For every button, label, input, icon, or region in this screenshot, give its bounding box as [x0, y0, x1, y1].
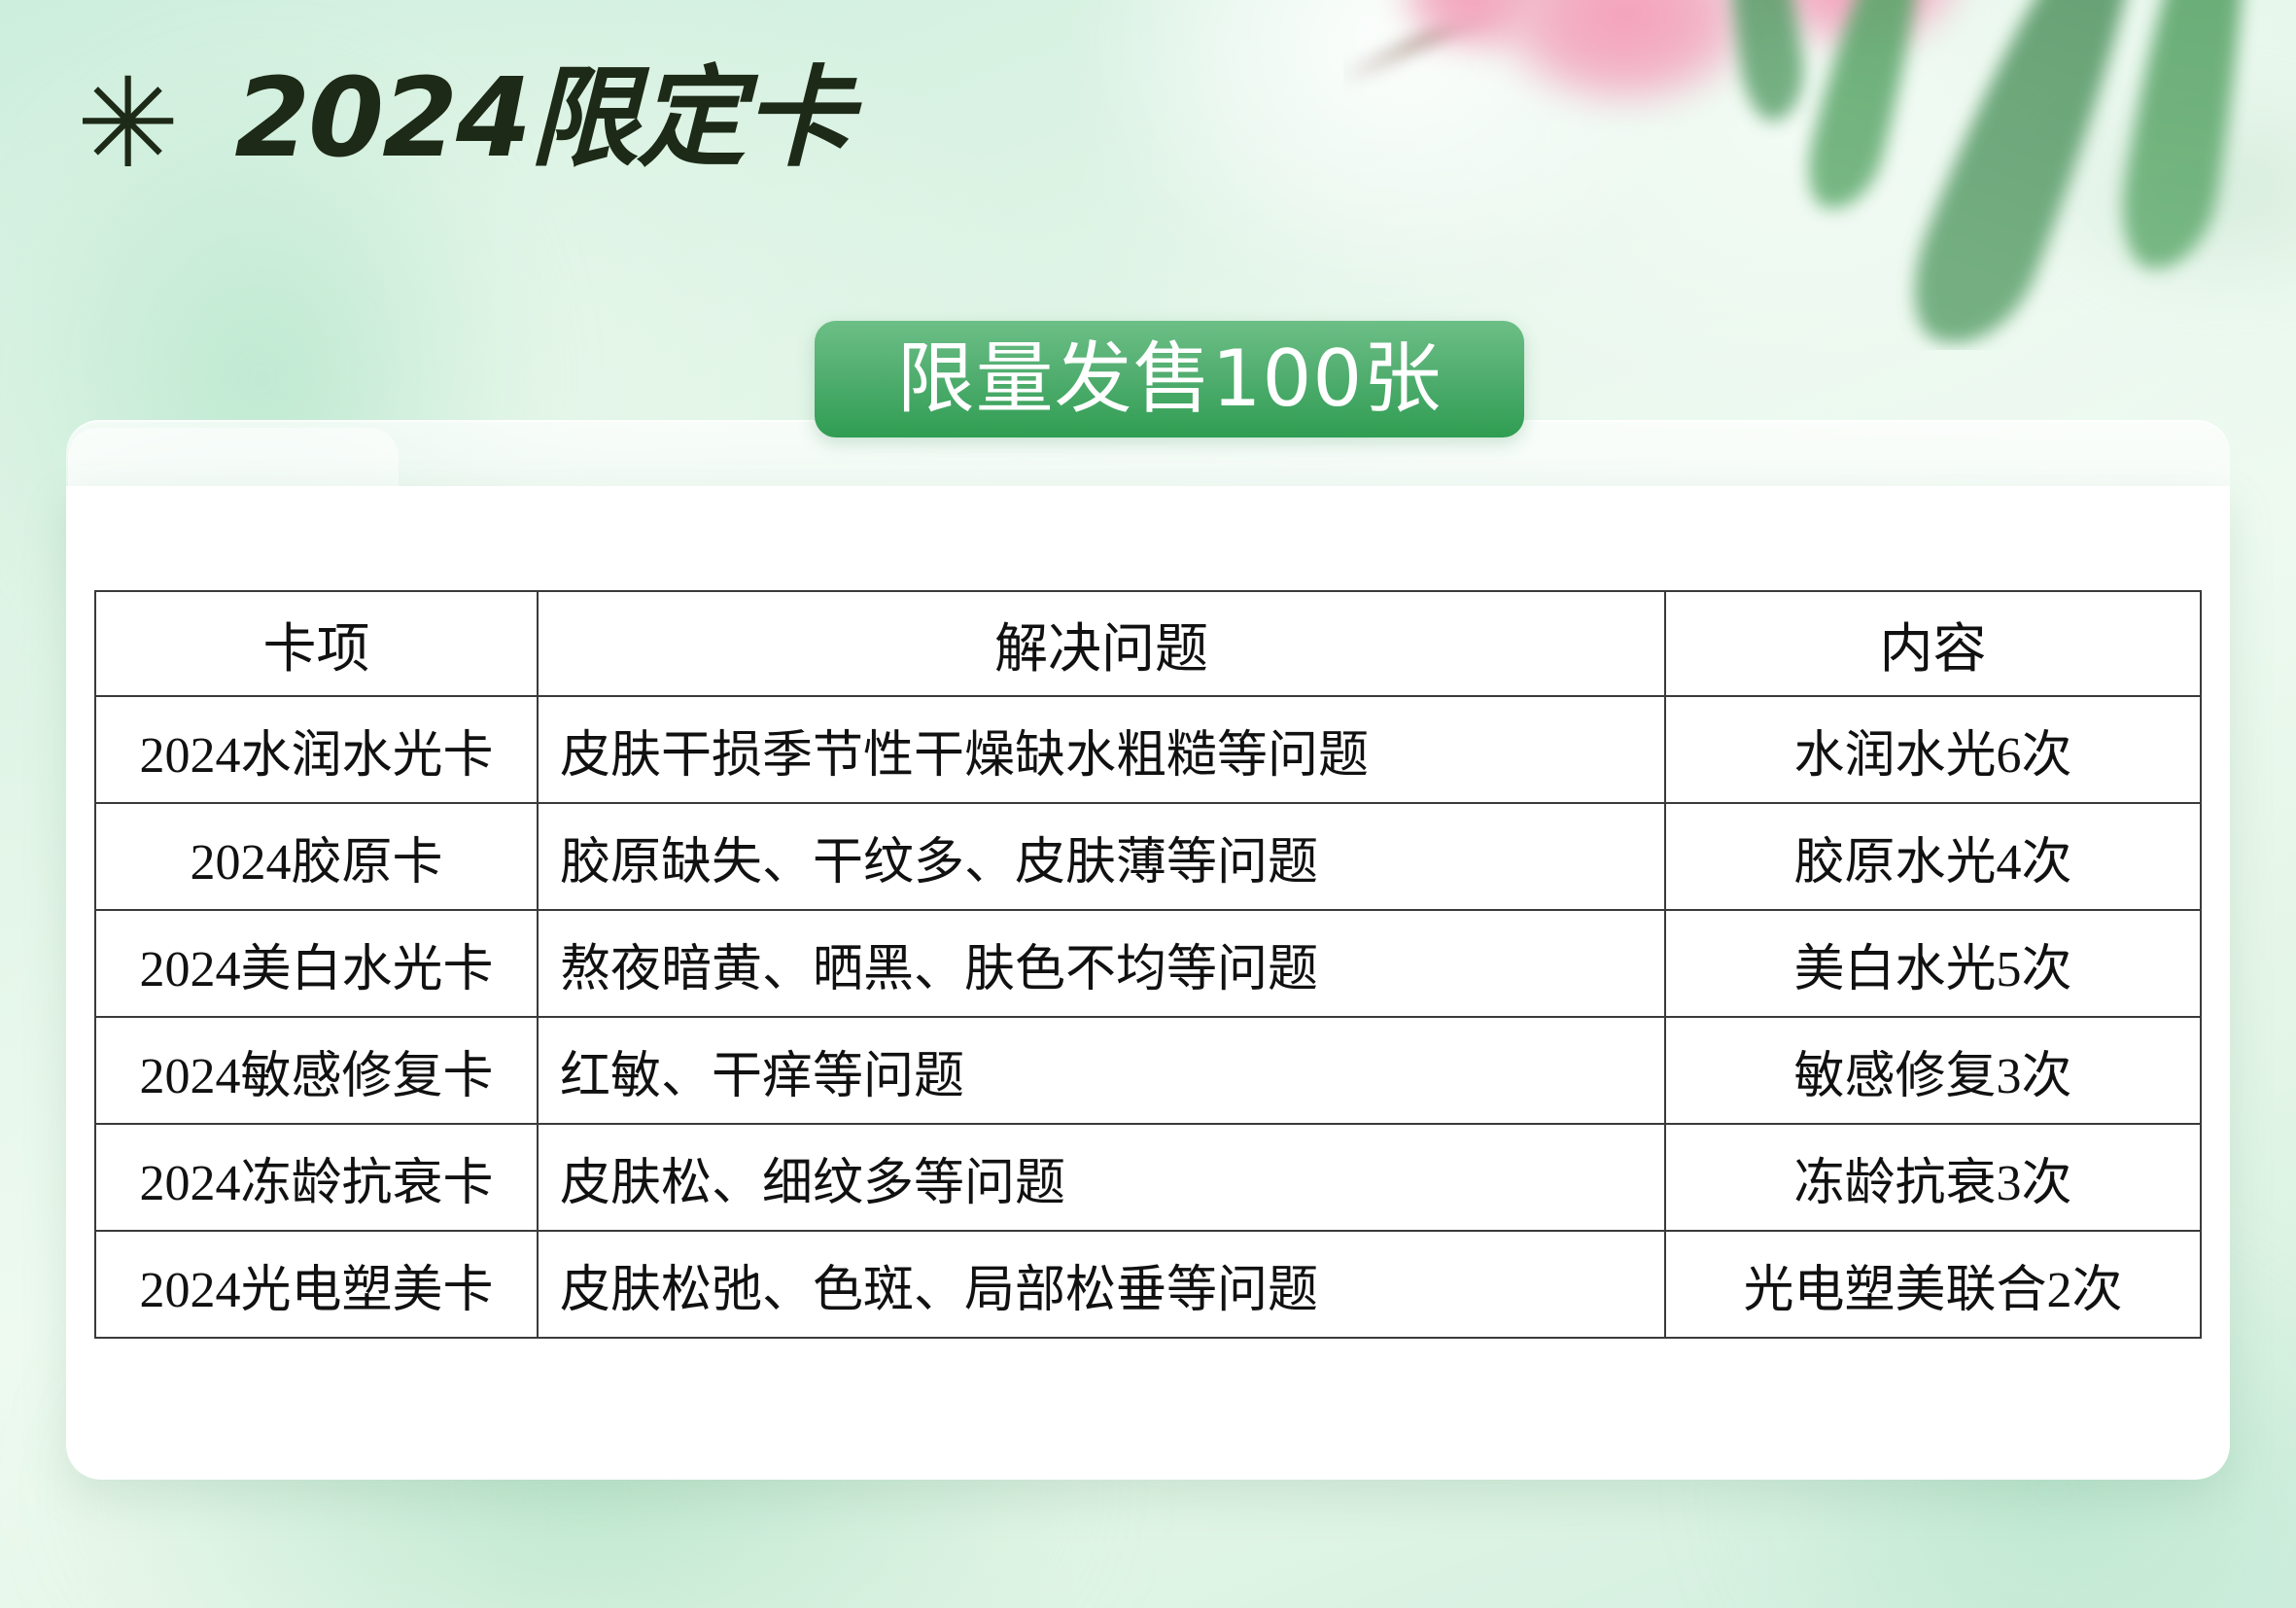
cell-card-name: 2024光电塑美卡 [95, 1231, 538, 1338]
cell-card-name: 2024敏感修复卡 [95, 1017, 538, 1124]
table-head: 卡项 解决问题 内容 [95, 591, 2201, 696]
cell-content: 美白水光5次 [1665, 910, 2201, 1017]
pricing-table: 卡项 解决问题 内容 2024水润水光卡 皮肤干损季节性干燥缺水粗糙等问题 水润… [94, 590, 2202, 1339]
cell-issue: 皮肤松弛、色斑、局部松垂等问题 [538, 1231, 1665, 1338]
cell-content: 胶原水光4次 [1665, 803, 2201, 910]
table-row: 2024冻龄抗衰卡 皮肤松、细纹多等问题 冻龄抗衰3次 [95, 1124, 2201, 1231]
asterisk-icon: ✳ [76, 62, 180, 187]
page-title: 2024限定卡 [234, 64, 851, 173]
floral-decoration [1343, 0, 2296, 350]
table-row: 2024胶原卡 胶原缺失、干纹多、皮肤薄等问题 胶原水光4次 [95, 803, 2201, 910]
cell-card-name: 2024冻龄抗衰卡 [95, 1124, 538, 1231]
blossom-icon [1479, 0, 1771, 117]
cell-issue: 熬夜暗黄、晒黑、肤色不均等问题 [538, 910, 1665, 1017]
pricing-table-wrap: 卡项 解决问题 内容 2024水润水光卡 皮肤干损季节性干燥缺水粗糙等问题 水润… [94, 590, 2200, 1339]
table-body: 2024水润水光卡 皮肤干损季节性干燥缺水粗糙等问题 水润水光6次 2024胶原… [95, 696, 2201, 1338]
table-header-row: 卡项 解决问题 内容 [95, 591, 2201, 696]
limited-stock-badge: 限量发售100张 [815, 321, 1524, 437]
table-row: 2024光电塑美卡 皮肤松弛、色斑、局部松垂等问题 光电塑美联合2次 [95, 1231, 2201, 1338]
cell-issue: 红敏、干痒等问题 [538, 1017, 1665, 1124]
card-top-tab [68, 428, 399, 486]
table-row: 2024敏感修复卡 红敏、干痒等问题 敏感修复3次 [95, 1017, 2201, 1124]
cell-content: 光电塑美联合2次 [1665, 1231, 2201, 1338]
cell-card-name: 2024水润水光卡 [95, 696, 538, 803]
cell-issue: 皮肤松、细纹多等问题 [538, 1124, 1665, 1231]
cell-card-name: 2024胶原卡 [95, 803, 538, 910]
column-header-card: 卡项 [95, 591, 538, 696]
cell-content: 敏感修复3次 [1665, 1017, 2201, 1124]
cell-content: 水润水光6次 [1665, 696, 2201, 803]
column-header-issue: 解决问题 [538, 591, 1665, 696]
promo-poster: ✳ 2024限定卡 限量发售100张 卡项 解决问题 内容 2024 [0, 0, 2296, 1608]
column-header-content: 内容 [1665, 591, 2201, 696]
poster-title-row: ✳ 2024限定卡 [76, 56, 851, 181]
cell-card-name: 2024美白水光卡 [95, 910, 538, 1017]
table-row: 2024水润水光卡 皮肤干损季节性干燥缺水粗糙等问题 水润水光6次 [95, 696, 2201, 803]
limited-stock-badge-label: 限量发售100张 [897, 340, 1443, 418]
cell-content: 冻龄抗衰3次 [1665, 1124, 2201, 1231]
cell-issue: 胶原缺失、干纹多、皮肤薄等问题 [538, 803, 1665, 910]
table-row: 2024美白水光卡 熬夜暗黄、晒黑、肤色不均等问题 美白水光5次 [95, 910, 2201, 1017]
cell-issue: 皮肤干损季节性干燥缺水粗糙等问题 [538, 696, 1665, 803]
